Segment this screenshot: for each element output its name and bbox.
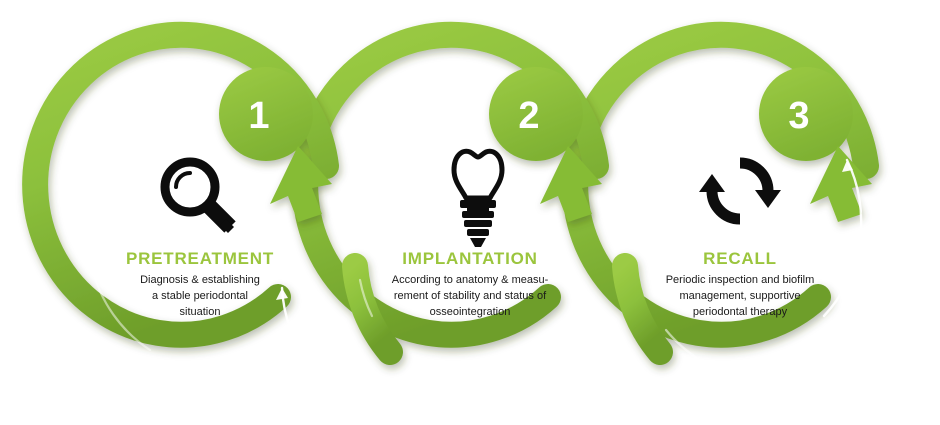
cycle-arrows-icon <box>699 163 781 219</box>
step-desc-3-line-1: Periodic inspection and biofilm <box>625 273 855 289</box>
step-desc-1-line-2: a stable periodontal <box>85 289 315 305</box>
step-desc-2-line-1: According to anatomy & measu- <box>355 273 585 289</box>
step-content-2: IMPLANTATION According to anatomy & meas… <box>355 250 585 321</box>
cycle-diagram: 1 2 3 <box>0 0 940 425</box>
step-number-2: 2 <box>518 95 539 137</box>
step-content-3: RECALL Periodic inspection and biofilm m… <box>625 250 855 321</box>
step-content-1: PRETREATMENT Diagnosis & establishing a … <box>85 250 315 321</box>
step-desc-3-line-3: periodontal therapy <box>625 305 855 321</box>
dental-implant-icon <box>454 151 502 247</box>
step-desc-1-line-3: situation <box>85 305 315 321</box>
infographic-canvas: 1 2 3 <box>0 0 940 425</box>
step-desc-1-line-1: Diagnosis & establishing <box>85 273 315 289</box>
step-title-2: IMPLANTATION <box>355 250 585 267</box>
step-desc-2-line-2: rement of stability and status of <box>355 289 585 305</box>
step-number-1: 1 <box>248 95 269 137</box>
step-title-3: RECALL <box>625 250 855 267</box>
step-desc-3-line-2: management, supportive <box>625 289 855 305</box>
step-desc-2-line-3: osseointegration <box>355 305 585 321</box>
step-number-3: 3 <box>788 95 809 137</box>
magnifying-glass-icon <box>165 162 234 233</box>
step-title-1: PRETREATMENT <box>85 250 315 267</box>
